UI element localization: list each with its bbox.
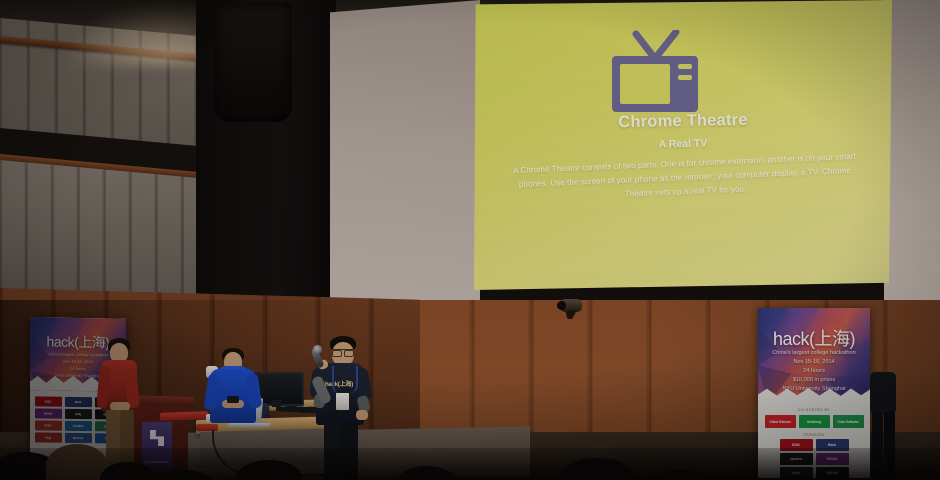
projection-screen: Chrome Theatre A Real TV A Chrome Theatr… [474, 0, 892, 290]
sponsor-logo: Orion Software [833, 415, 864, 428]
retro-tv-icon [600, 30, 710, 116]
sponsor-logo: China Telecom [765, 415, 796, 428]
wall-panel-center [330, 0, 480, 310]
cohost-logo-grid: China TelecomUnistrongOrion Software [761, 414, 867, 429]
lanyard [332, 366, 358, 394]
cohosted-by-label: CO-HOSTED BY [758, 408, 870, 412]
wall-panel-right [884, 0, 940, 300]
wall-mounted-camera-icon [556, 297, 586, 321]
audience-head [46, 444, 108, 480]
nyu-torch-icon [150, 430, 164, 446]
red-table-cloth [160, 411, 208, 421]
banner-artwork: hack(上海) China's largest college hackath… [758, 308, 870, 403]
person-blue-jacket [206, 348, 260, 438]
handheld-device [227, 396, 239, 403]
name-badge [336, 393, 349, 410]
hanging-speaker [214, 2, 292, 122]
banner-line-1: China's largest college hackathon [758, 350, 870, 356]
slide-body-text: A Chrome Theatre consists of two parts. … [507, 150, 862, 207]
banner-wordmark: hack(上海) [758, 325, 870, 351]
banner-line-4: $10,000 in prizes [758, 377, 870, 383]
banner-line-3: 24 hours [758, 368, 870, 374]
slide-title: Chrome Theatre [474, 108, 892, 135]
glasses-icon [332, 349, 354, 355]
photo-scene: Chrome Theatre A Real TV A Chrome Theatr… [0, 0, 940, 480]
banner-line-2: Nov 15-16, 2014 [758, 359, 870, 365]
sponsor-logo: Unistrong [799, 415, 830, 428]
sponsors-label: SPONSORS [758, 433, 870, 437]
microphone-head [313, 345, 322, 354]
